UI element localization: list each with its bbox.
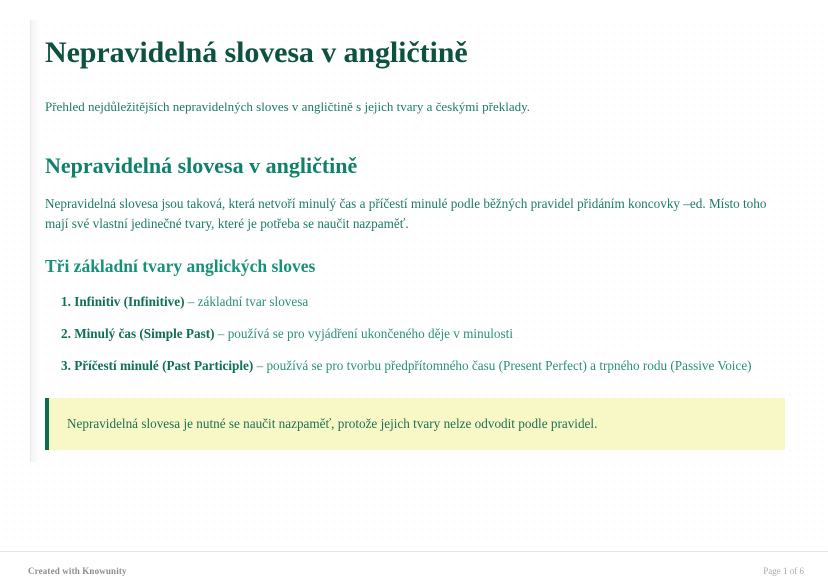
highlight-callout: Nepravidelná slovesa je nutné se naučit …	[45, 398, 785, 450]
section-subheading: Tři základní tvary anglických sloves	[45, 234, 785, 278]
section-paragraph: Nepravidelná slovesa jsou taková, která …	[45, 180, 785, 234]
callout-text: Nepravidelná slovesa je nutné se naučit …	[67, 414, 767, 433]
list-item-number: 1.	[61, 294, 71, 309]
list-item-description: – základní tvar slovesa	[188, 294, 308, 309]
document-page: Nepravidelná slovesa v angličtině Přehle…	[0, 0, 828, 586]
verb-forms-list: 1. Infinitiv (Infinitive) – základní tva…	[45, 278, 785, 382]
page-left-shade	[31, 20, 40, 462]
page-title: Nepravidelná slovesa v angličtině	[45, 0, 785, 72]
list-item-term: Příčestí minulé (Past Participle)	[74, 358, 253, 373]
page-footer: Created with Knowunity Page 1 of 6	[0, 552, 828, 586]
list-item: 1. Infinitiv (Infinitive) – základní tva…	[45, 286, 785, 318]
document-content: Nepravidelná slovesa v angličtině Přehle…	[45, 0, 785, 450]
list-item-term: Infinitiv (Infinitive)	[74, 294, 184, 309]
footer-page-number: Page 1 of 6	[763, 565, 804, 577]
list-item-description: – používá se pro vyjádření ukončeného dě…	[218, 326, 513, 341]
list-item-term: Minulý čas (Simple Past)	[74, 326, 214, 341]
list-item: 2. Minulý čas (Simple Past) – používá se…	[45, 318, 785, 350]
section-heading: Nepravidelná slovesa v angličtině	[45, 116, 785, 180]
document-subtitle: Přehled nejdůležitějších nepravidelných …	[45, 72, 785, 116]
list-item: 3. Příčestí minulé (Past Participle) – p…	[45, 350, 785, 382]
footer-credit: Created with Knowunity	[28, 565, 127, 577]
list-item-number: 2.	[61, 326, 71, 341]
list-item-description: – používá se pro tvorbu předpřítomného č…	[257, 358, 752, 373]
list-item-number: 3.	[61, 358, 71, 373]
page-left-rail	[30, 20, 31, 462]
